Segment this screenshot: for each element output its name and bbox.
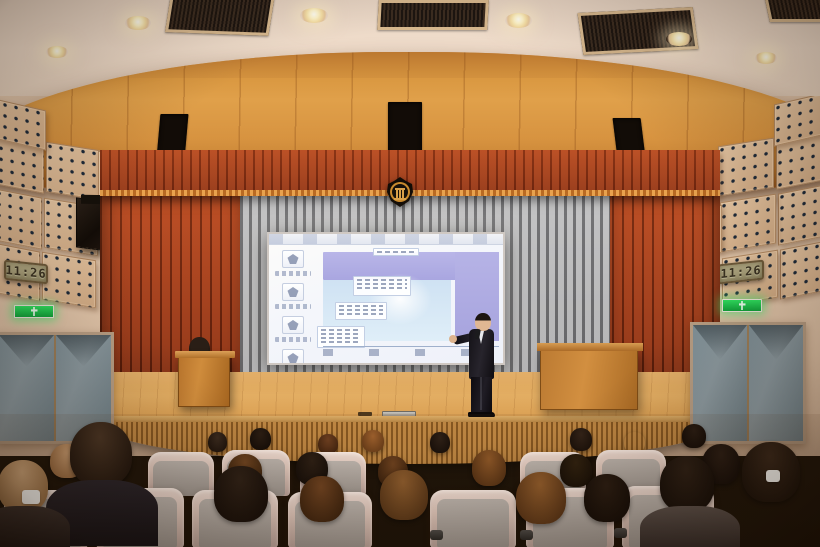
exit-sign-right — [722, 299, 762, 312]
slide-category-label — [275, 304, 311, 309]
slide-category-label — [275, 337, 311, 342]
seat-armrest — [614, 528, 627, 538]
wall-clock-right-time: 11:26 — [720, 263, 761, 281]
ceiling-downlight — [505, 13, 532, 28]
slide-category-icon — [282, 349, 304, 363]
slide-callout — [317, 326, 365, 348]
audience-head — [0, 460, 48, 512]
audience-head — [516, 472, 566, 524]
presenter-legs — [471, 377, 492, 416]
face-mask — [766, 470, 780, 482]
slide-callout — [353, 276, 411, 296]
audience-seating — [0, 414, 820, 547]
audience-head — [584, 474, 630, 522]
perforated-acoustic-panel — [42, 252, 96, 309]
slide-topbar-ticks — [269, 234, 503, 244]
audience-head — [472, 450, 506, 486]
seat-armrest — [520, 530, 533, 540]
running-person-icon — [739, 301, 746, 310]
school-crest-icon — [384, 176, 416, 208]
audience-head — [570, 428, 592, 451]
lectern — [178, 355, 230, 407]
audience-head — [250, 428, 271, 450]
ceiling-downlight — [666, 32, 692, 46]
audience-head — [380, 470, 428, 520]
wall-clock-left-time: 11:26 — [5, 263, 46, 281]
slide-topbar — [269, 234, 503, 245]
audience-head — [682, 424, 706, 448]
slide-category-icon — [282, 250, 304, 268]
slide-icon-column — [273, 250, 313, 357]
auditorium-seat[interactable] — [430, 490, 516, 547]
perforated-acoustic-panel — [46, 142, 100, 201]
stage-table — [540, 348, 638, 410]
ceiling-vent — [762, 0, 820, 22]
perforated-acoustic-panel — [778, 182, 820, 245]
slide-callout — [335, 302, 387, 320]
slide-category-icon — [282, 283, 304, 301]
perforated-acoustic-panel — [0, 186, 42, 249]
audience-head — [430, 432, 450, 453]
audience-head — [560, 454, 592, 487]
slide-callout — [373, 248, 419, 256]
audience-shoulders — [0, 506, 70, 547]
perforated-acoustic-panel — [780, 238, 820, 299]
presenter-hand — [449, 335, 457, 343]
running-person-icon — [31, 307, 38, 316]
audience-head — [208, 432, 227, 452]
exit-sign-left — [14, 305, 54, 318]
presenter — [462, 313, 500, 416]
auditorium-scene: 11:26 11:26 — [0, 0, 820, 547]
perforated-acoustic-panel — [718, 138, 774, 197]
stage-table-top — [537, 343, 643, 351]
perforated-acoustic-panel — [720, 194, 776, 253]
audience-head — [300, 476, 344, 522]
audience-head — [318, 434, 338, 454]
slide-category-label — [275, 271, 311, 276]
ceiling-downlight — [125, 16, 151, 30]
audience-head — [70, 422, 132, 486]
audience-head — [214, 466, 268, 522]
ceiling-downlight — [300, 8, 328, 23]
ceiling-vent — [577, 7, 698, 55]
ceiling-vent — [165, 0, 275, 36]
slide-category-icon — [282, 316, 304, 334]
ceiling-vent — [377, 0, 489, 30]
face-mask — [22, 490, 40, 504]
audience-shoulders — [640, 506, 740, 547]
audience-head — [362, 430, 384, 452]
audience-head — [660, 456, 714, 512]
lectern-top — [175, 351, 235, 358]
seat-armrest — [430, 530, 443, 540]
